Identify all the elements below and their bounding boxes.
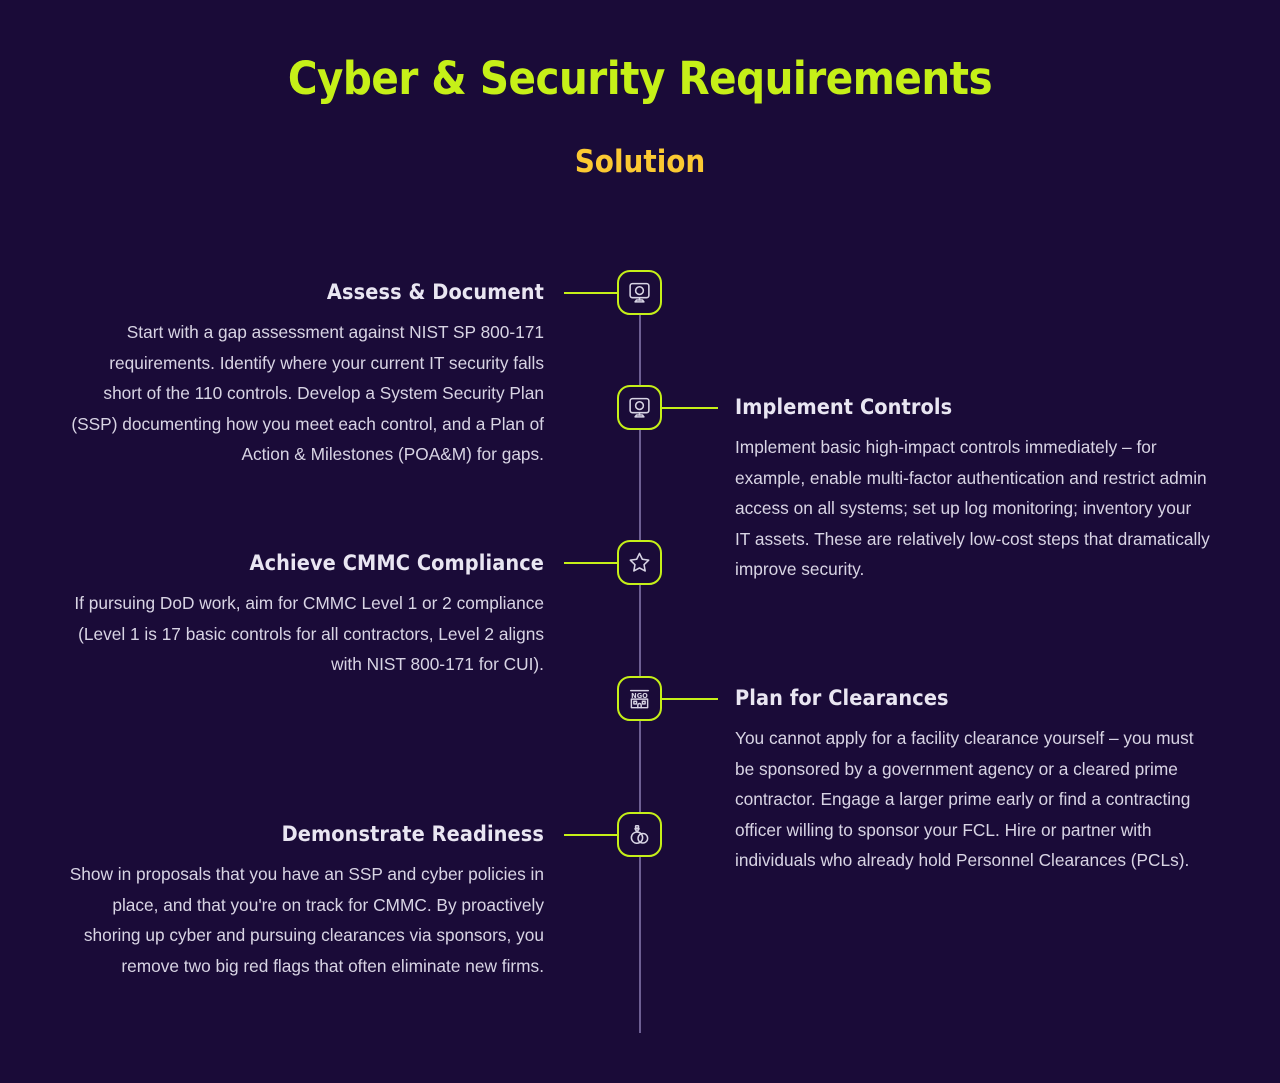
timeline-block-3: Achieve CMMC Compliance If pursuing DoD …	[69, 551, 544, 680]
monitor-screen-icon	[627, 280, 652, 305]
rings-icon	[627, 822, 652, 847]
timeline-block-body: You cannot apply for a facility clearanc…	[735, 723, 1210, 876]
timeline-block-2: Implement Controls Implement basic high-…	[735, 395, 1210, 585]
monitor-screen-icon	[627, 395, 652, 420]
timeline-block-body: Implement basic high-impact controls imm…	[735, 432, 1210, 585]
page-subtitle: Solution	[0, 144, 1280, 180]
timeline-block-title: Plan for Clearances	[735, 686, 1210, 711]
timeline-block-1: Assess & Document Start with a gap asses…	[69, 280, 544, 470]
timeline-node-2[interactable]	[617, 385, 662, 430]
timeline-block-body: Start with a gap assessment against NIST…	[69, 317, 544, 470]
page-title: Cyber & Security Requirements	[0, 52, 1280, 105]
connector-line-3	[564, 562, 619, 564]
timeline-block-title: Demonstrate Readiness	[69, 822, 544, 847]
ngo-building-icon: NGO	[627, 686, 652, 711]
timeline-block-title: Assess & Document	[69, 280, 544, 305]
timeline-block-4: Plan for Clearances You cannot apply for…	[735, 686, 1210, 876]
timeline-node-5[interactable]	[617, 812, 662, 857]
timeline-node-4[interactable]: NGO	[617, 676, 662, 721]
connector-line-1	[564, 292, 619, 294]
infographic-page: Cyber & Security Requirements Solution A…	[0, 0, 1280, 1083]
timeline-block-5: Demonstrate Readiness Show in proposals …	[69, 822, 544, 981]
timeline-node-3[interactable]	[617, 540, 662, 585]
connector-line-4	[661, 698, 718, 700]
connector-line-5	[564, 834, 619, 836]
timeline-block-body: Show in proposals that you have an SSP a…	[69, 859, 544, 981]
connector-line-2	[661, 407, 718, 409]
star-icon	[627, 550, 652, 575]
timeline-node-1[interactable]	[617, 270, 662, 315]
timeline-block-body: If pursuing DoD work, aim for CMMC Level…	[69, 588, 544, 680]
timeline-block-title: Achieve CMMC Compliance	[69, 551, 544, 576]
timeline-block-title: Implement Controls	[735, 395, 1210, 420]
